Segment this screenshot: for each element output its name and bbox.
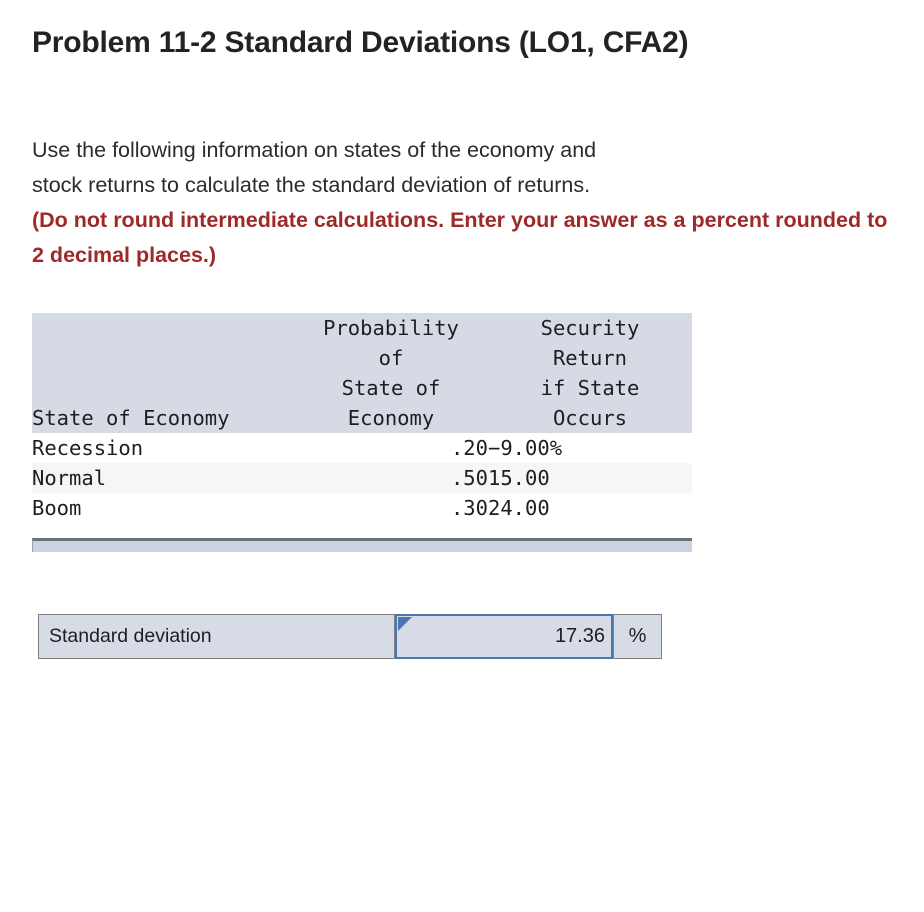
cell-probability: .20 (294, 433, 488, 463)
cell-state: Boom (32, 493, 294, 523)
standard-deviation-input[interactable]: 17.36 (395, 614, 613, 659)
cell-return: −9.00% (488, 433, 692, 463)
prompt-line-2: stock returns to calculate the standard … (32, 173, 590, 197)
column-header-state-of-economy: State of Economy (32, 313, 294, 433)
cell-probability: .30 (294, 493, 488, 523)
table-row: Normal .50 15.00 (32, 463, 692, 493)
table-footer-bar (32, 538, 692, 552)
column-header-probability: Probability of State of Economy (294, 313, 488, 433)
table-body: Recession .20 −9.00% Normal .50 15.00 Bo… (32, 433, 692, 523)
cell-marker-triangle-icon (398, 617, 412, 631)
table-header-row: State of Economy Probability of State of… (32, 313, 692, 433)
table-header: State of Economy Probability of State of… (32, 313, 692, 433)
economy-returns-table: State of Economy Probability of State of… (32, 313, 692, 523)
cell-state: Recession (32, 433, 294, 463)
answer-unit-percent: % (613, 615, 661, 658)
page-title: Problem 11-2 Standard Deviations (LO1, C… (32, 26, 688, 60)
data-table-container: State of Economy Probability of State of… (32, 313, 692, 523)
prompt-emphasis: (Do not round intermediate calculations.… (32, 203, 892, 273)
cell-return: 15.00 (488, 463, 692, 493)
problem-prompt: Use the following information on states … (32, 133, 892, 273)
prompt-line-1: Use the following information on states … (32, 138, 596, 162)
column-header-security-return: Security Return if State Occurs (488, 313, 692, 433)
table-row: Recession .20 −9.00% (32, 433, 692, 463)
cell-return: 24.00 (488, 493, 692, 523)
answer-row: Standard deviation 17.36 % (38, 614, 662, 659)
cell-state: Normal (32, 463, 294, 493)
answer-value: 17.36 (555, 625, 605, 648)
cell-probability: .50 (294, 463, 488, 493)
answer-label: Standard deviation (39, 615, 395, 658)
table-row: Boom .30 24.00 (32, 493, 692, 523)
